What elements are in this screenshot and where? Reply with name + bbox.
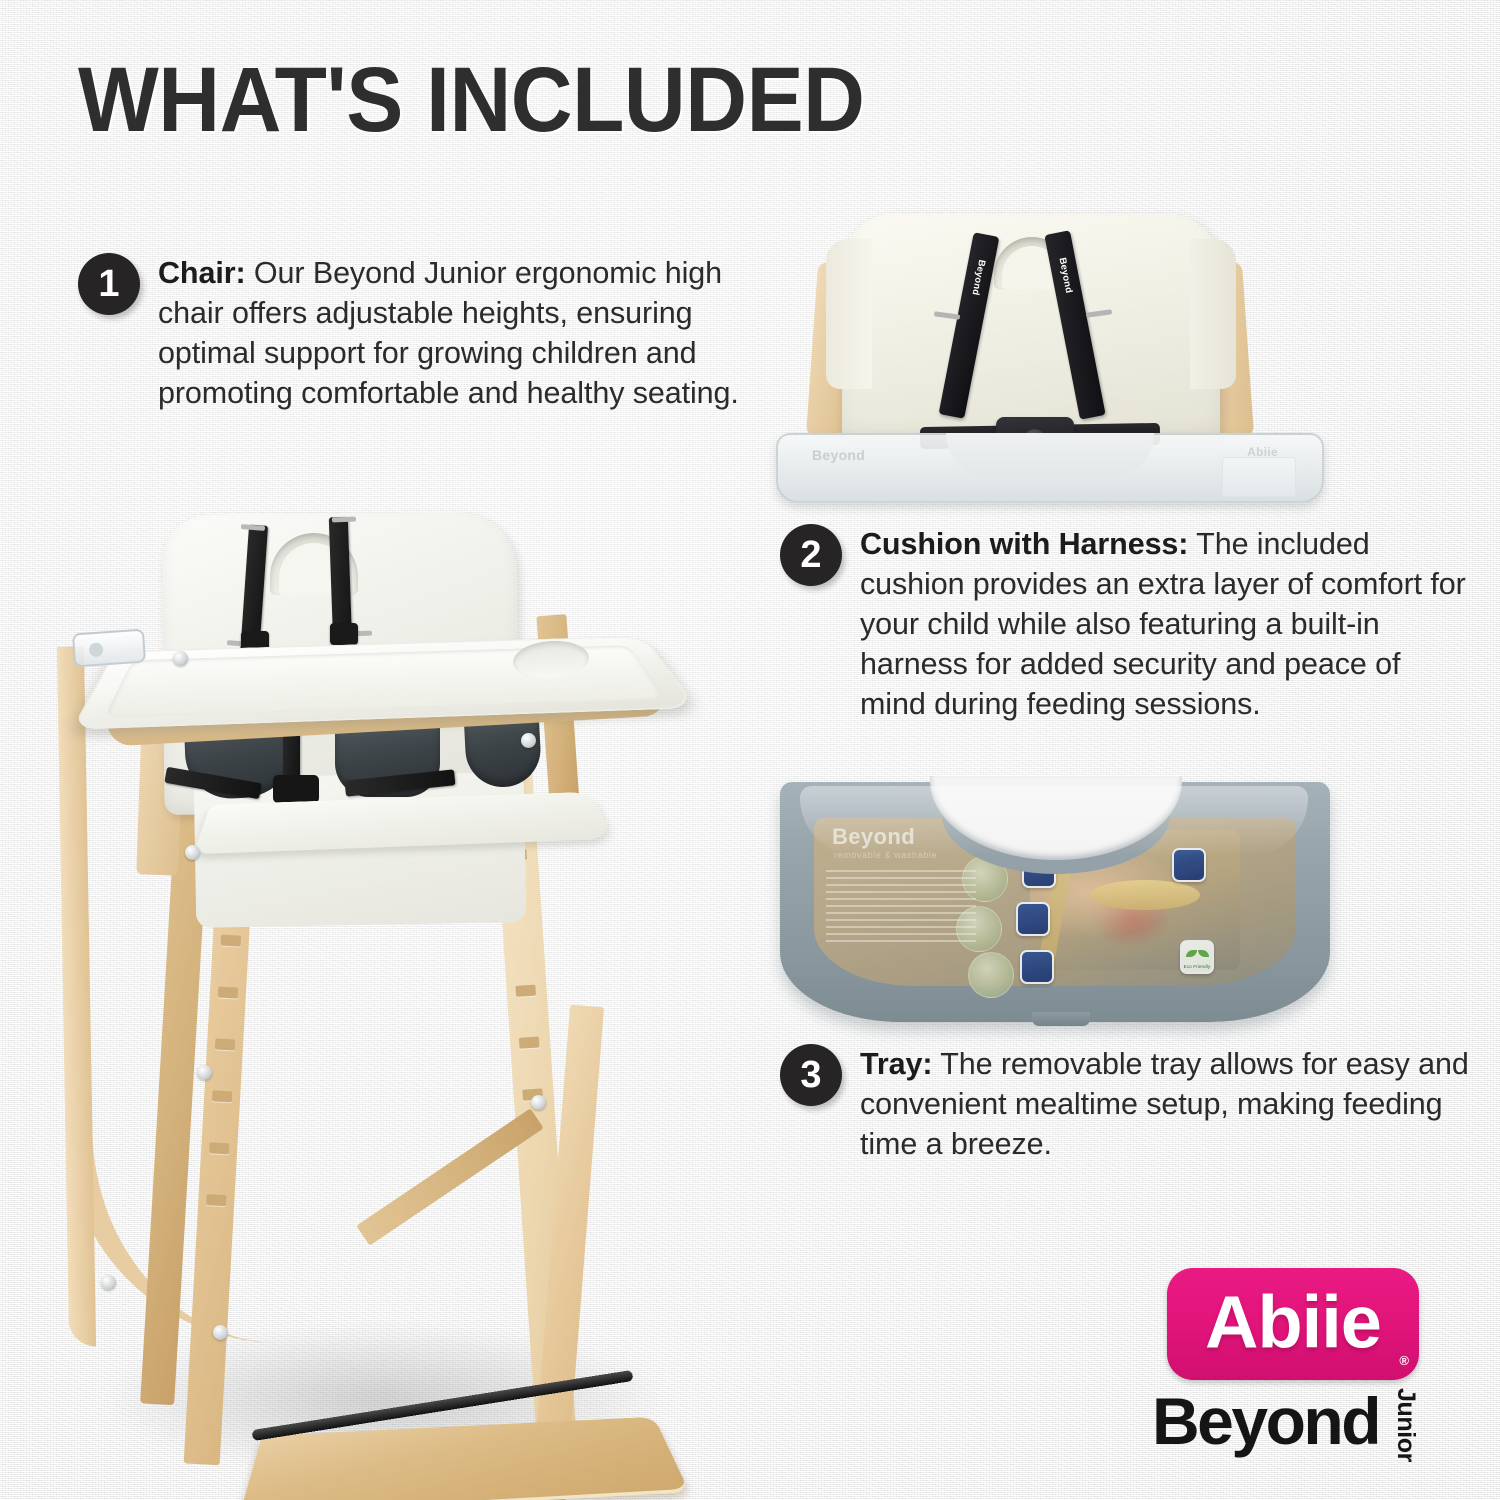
brand-logo: Abiie ® Beyond Junior [1152, 1268, 1472, 1483]
cushion-tray-brand-label: Beyond [812, 447, 865, 463]
brand-logo-pill: Abiie ® [1167, 1268, 1419, 1380]
tray-bottom-tab [1032, 1012, 1090, 1026]
feature-number-badge: 1 [78, 253, 140, 315]
tray-insert-text-block [826, 870, 976, 946]
chair-screw [185, 845, 200, 860]
chair-screw [101, 1275, 116, 1290]
feature-text: Chair: Our Beyond Junior ergonomic high … [158, 253, 768, 413]
cushion-photo-tray-notch [946, 433, 1154, 479]
feature-heading: Tray: [860, 1047, 932, 1081]
cushion-tray-brand-label-right: Abiie [1247, 445, 1278, 459]
feature-number-badge: 3 [780, 1044, 842, 1106]
tray-feature-badge-height-adjust-icon [1016, 902, 1050, 936]
chair-screw [173, 651, 188, 666]
tray-insert-thumbnail [968, 952, 1014, 998]
feature-heading: Cushion with Harness: [860, 527, 1188, 561]
chair-screw [197, 1065, 212, 1080]
page-title: WHAT'S INCLUDED [78, 52, 865, 148]
cushion-strap-brand-label: Beyond [1057, 257, 1075, 294]
chair-strap-clip-right [332, 517, 356, 523]
product-photo-tray: Eco Friendly Beyond removable & washable [780, 772, 1330, 1050]
product-line-suffix: Junior [1391, 1388, 1420, 1462]
feature-text: Cushion with Harness: The included cushi… [860, 524, 1470, 724]
cushion-tray-insert-card [1222, 457, 1296, 497]
product-photo-cushion: Beyond Beyond Beyond Abiie [770, 205, 1330, 500]
feature-item-tray: 3 Tray: The removable tray allows for ea… [780, 1044, 1470, 1164]
feature-body: Our Beyond Junior ergonomic high chair o… [158, 256, 739, 410]
tray-brand-sublabel: removable & washable [834, 850, 937, 860]
chair-screw [531, 1095, 546, 1110]
feature-item-chair: 1 Chair: Our Beyond Junior ergonomic hig… [78, 253, 768, 413]
product-photo-chair [45, 445, 725, 1465]
chair-strap-buckle-right [330, 623, 358, 645]
infographic-page: WHAT'S INCLUDED [0, 0, 1500, 1500]
chair-screw [521, 733, 536, 748]
tray-feature-badge-bpa-free-icon [1020, 950, 1054, 984]
tray-brand-label: Beyond [832, 824, 915, 850]
cushion-strap-brand-label: Beyond [970, 259, 988, 296]
feature-heading: Chair: [158, 256, 246, 290]
chair-tray-latch [72, 629, 146, 668]
brand-name: Abiie [1167, 1286, 1419, 1360]
chair-diagonal-brace [356, 1108, 544, 1245]
feature-number-badge: 2 [780, 524, 842, 586]
tray-feature-badge-easy-clean-icon [1172, 848, 1206, 882]
feature-item-cushion: 2 Cushion with Harness: The included cus… [780, 524, 1470, 724]
feature-body: The removable tray allows for easy and c… [860, 1047, 1469, 1161]
product-line-name: Beyond [1152, 1386, 1424, 1456]
feature-text: Tray: The removable tray allows for easy… [860, 1044, 1470, 1164]
registered-trademark-icon: ® [1399, 1353, 1409, 1368]
chair-screw [213, 1325, 228, 1340]
chair-harness-center-buckle [273, 775, 319, 803]
tray-feature-badge-eco-friendly-icon: Eco Friendly [1180, 940, 1214, 974]
tray-insert-tray-graphic [1090, 880, 1200, 910]
tray-eco-badge-label: Eco Friendly [1182, 964, 1212, 969]
